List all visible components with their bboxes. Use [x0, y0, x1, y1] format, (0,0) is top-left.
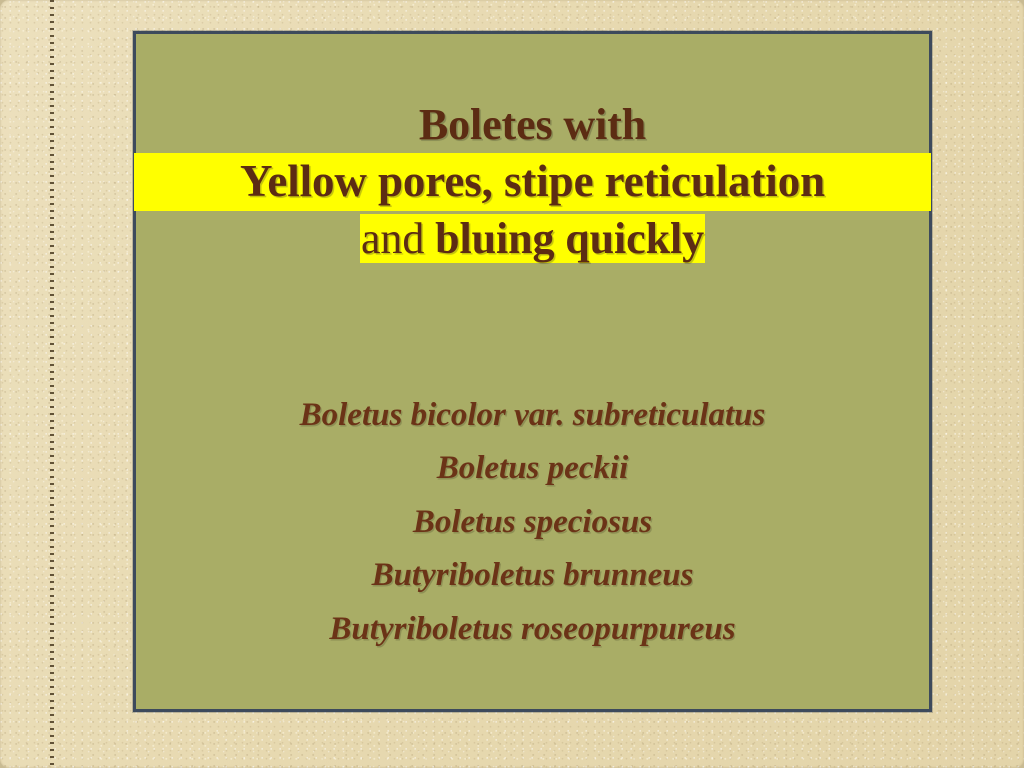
list-item: Boletus speciosus: [136, 496, 929, 549]
content-panel: Boletes with Yellow pores, stipe reticul…: [133, 31, 932, 712]
dotted-rule-decoration: [50, 0, 54, 768]
title-line-2-highlighted: Yellow pores, stipe reticulation: [134, 153, 931, 211]
list-item: Boletus peckii: [136, 442, 929, 495]
slide-page: Boletes with Yellow pores, stipe reticul…: [0, 0, 1024, 768]
title-line-1: Boletes with: [136, 97, 929, 153]
list-item: Butyriboletus roseopurpureus: [136, 603, 929, 656]
species-list: Boletus bicolor var. subreticulatus Bole…: [136, 389, 929, 656]
title-line-3-conjunction: and: [361, 214, 435, 263]
title-line-3-highlighted: and bluing quickly: [136, 211, 929, 267]
slide-title: Boletes with Yellow pores, stipe reticul…: [136, 97, 929, 267]
title-line-3-emphasis: bluing quickly: [435, 214, 704, 263]
list-item: Butyriboletus brunneus: [136, 549, 929, 602]
list-item: Boletus bicolor var. subreticulatus: [136, 389, 929, 442]
